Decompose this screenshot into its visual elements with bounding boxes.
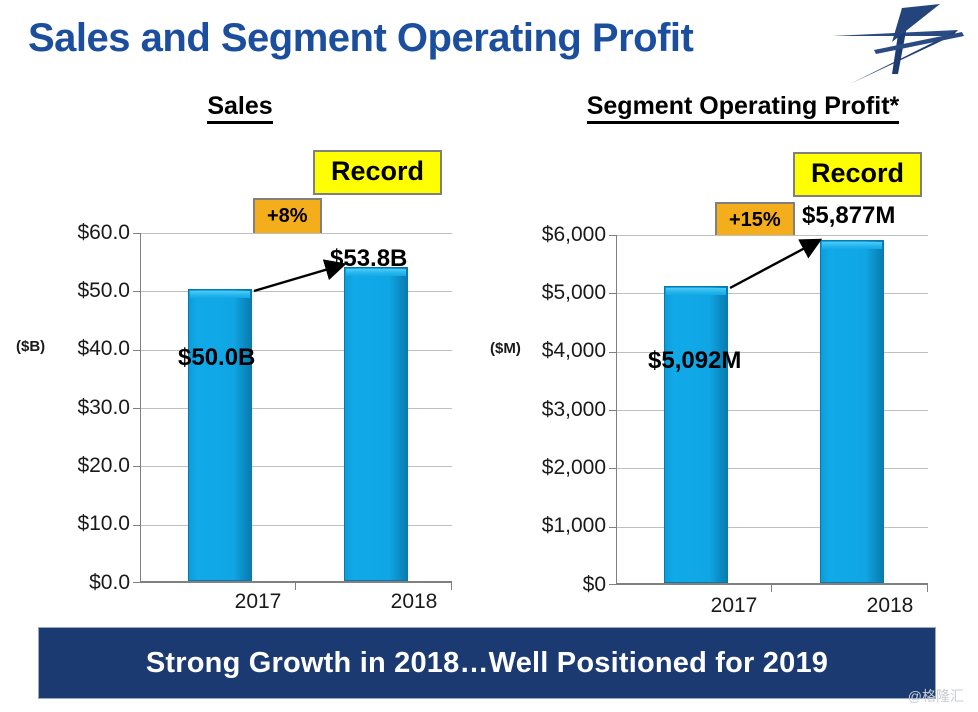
x-axis-line — [616, 583, 928, 585]
page-title: Sales and Segment Operating Profit — [28, 16, 693, 61]
y-tick-label: $2,000 — [542, 456, 606, 480]
y-axis-profit: $6,000 $5,000 $4,000 $3,000 $2,000 $1,00… — [494, 92, 606, 622]
summary-banner: Strong Growth in 2018…Well Positioned fo… — [38, 627, 936, 699]
y-tick — [609, 584, 616, 585]
chart-profit-title-text: Segment Operating Profit* — [587, 92, 900, 124]
y-tick — [609, 235, 616, 236]
y-tick — [133, 233, 140, 234]
y-tick-label: $60.0 — [77, 221, 130, 245]
y-tick — [133, 350, 140, 351]
badge-growth-sales: +8% — [253, 198, 322, 235]
y-tick-label: $4,000 — [542, 339, 606, 363]
y-axis-line — [616, 235, 617, 585]
bar-profit-2017 — [664, 286, 728, 583]
bar-highlight — [666, 288, 726, 295]
data-label-profit-2018: $5,877M — [802, 202, 895, 230]
y-tick-label: $30.0 — [77, 396, 130, 420]
y-tick — [133, 525, 140, 526]
y-tick — [609, 352, 616, 353]
y-tick-label: $10.0 — [77, 512, 130, 536]
x-tick-label-2017: 2017 — [694, 594, 774, 618]
chart-segment-operating-profit: Segment Operating Profit* Record +15% ($… — [480, 92, 978, 622]
lockheed-martin-star-logo — [832, 2, 978, 88]
bar-highlight — [822, 242, 882, 249]
data-label-sales-2017: $50.0B — [178, 344, 255, 372]
x-tick-label-2017: 2017 — [218, 590, 298, 614]
y-tick-label: $50.0 — [77, 279, 130, 303]
y-tick-label: $3,000 — [542, 398, 606, 422]
watermark: @格隆汇 — [908, 686, 964, 706]
badge-growth-profit: +15% — [715, 202, 795, 239]
bar-profit-2018 — [820, 240, 884, 583]
x-tick — [771, 585, 772, 592]
y-tick-label: $0.0 — [89, 571, 130, 595]
y-tick-label: $6,000 — [542, 223, 606, 247]
x-tick — [927, 585, 928, 592]
y-tick — [133, 466, 140, 467]
bar-sales-2017 — [188, 289, 252, 581]
chart-sales-title-text: Sales — [207, 92, 272, 124]
bar-highlight — [190, 291, 250, 298]
data-label-sales-2018: $53.8B — [330, 245, 407, 273]
bar-sales-2018 — [344, 267, 408, 581]
plot-area-profit — [616, 235, 928, 585]
data-label-profit-2017: $5,092M — [648, 347, 741, 375]
x-tick — [451, 583, 452, 590]
gridline — [616, 235, 928, 236]
y-tick — [609, 410, 616, 411]
y-tick-label: $0 — [583, 573, 606, 597]
summary-banner-text: Strong Growth in 2018…Well Positioned fo… — [146, 647, 828, 680]
y-tick — [609, 293, 616, 294]
plot-area-sales — [140, 233, 452, 583]
chart-sales: Sales Record +8% ($B) $60.0 $50.0 $40.0 … — [0, 92, 480, 622]
x-axis-line — [140, 581, 452, 583]
gridline — [140, 233, 452, 234]
x-tick — [295, 583, 296, 590]
x-tick-label-2018: 2018 — [850, 594, 930, 618]
y-tick-label: $40.0 — [77, 337, 130, 361]
y-tick — [133, 408, 140, 409]
badge-record-profit: Record — [793, 152, 922, 197]
y-axis-line — [140, 233, 141, 583]
y-tick — [609, 527, 616, 528]
y-axis-sales: $60.0 $50.0 $40.0 $30.0 $20.0 $10.0 $0.0 — [18, 92, 130, 622]
badge-record-sales: Record — [313, 150, 442, 195]
x-tick-label-2018: 2018 — [374, 590, 454, 614]
y-tick — [609, 468, 616, 469]
y-tick-label: $1,000 — [542, 514, 606, 538]
y-tick-label: $20.0 — [77, 454, 130, 478]
y-tick-label: $5,000 — [542, 281, 606, 305]
y-tick — [133, 582, 140, 583]
y-tick — [133, 291, 140, 292]
